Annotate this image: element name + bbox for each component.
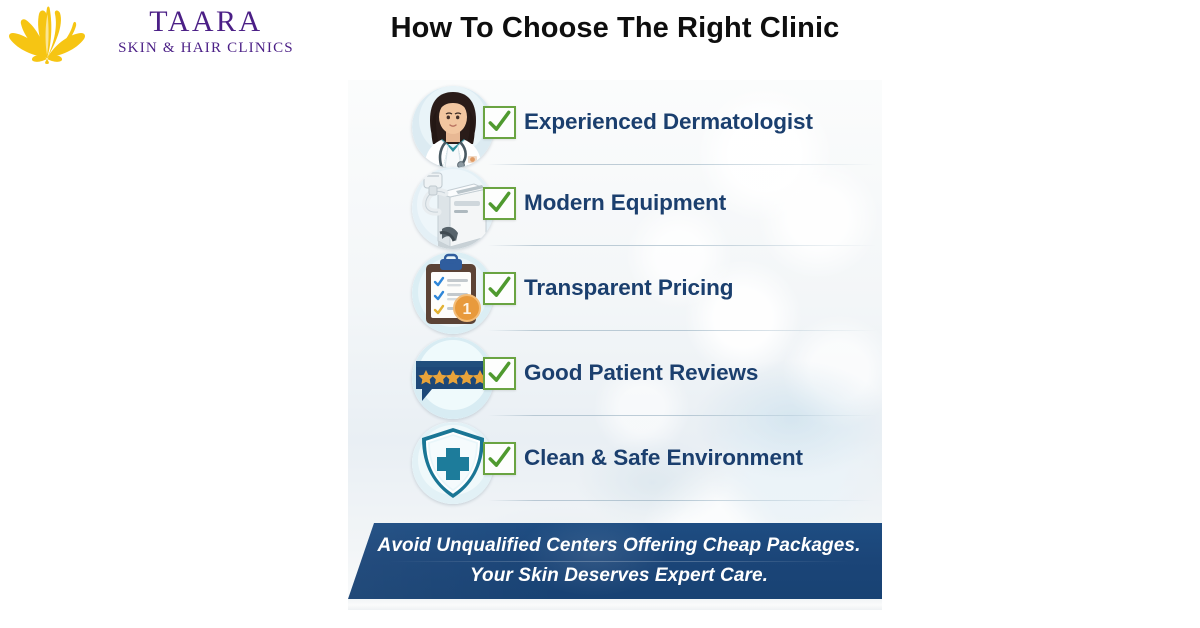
lotus-icon [6, 6, 88, 64]
list-item-label: Transparent Pricing [524, 270, 874, 306]
list-item-label: Experienced Dermatologist [524, 104, 874, 140]
checkbox-checked[interactable] [483, 106, 516, 139]
banner-rule [388, 561, 850, 562]
list-item: Good Patient Reviews [348, 335, 882, 421]
warning-banner: Avoid Unqualified Centers Offering Cheap… [348, 523, 882, 599]
row-divider [488, 330, 876, 331]
row-divider [488, 500, 876, 501]
brand-name: TAARA [90, 6, 322, 38]
list-item-label: Modern Equipment [524, 185, 874, 221]
panel-bottom-strip [348, 599, 882, 610]
brand-wordmark: TAARA SKIN & HAIR CLINICS [90, 6, 322, 62]
banner-line-2: Your Skin Deserves Expert Care. [374, 565, 864, 587]
laser-machine-icon [412, 167, 494, 249]
checkbox-checked[interactable] [483, 187, 516, 220]
page-title: How To Choose The Right Clinic [330, 12, 900, 45]
clipboard-checklist-icon: 1 [412, 252, 494, 334]
checkbox-checked[interactable] [483, 357, 516, 390]
infographic-panel: Experienced Dermatologist [348, 80, 882, 610]
list-item: Experienced Dermatologist [348, 84, 882, 170]
svg-text:1: 1 [463, 301, 472, 318]
list-item-label: Clean & Safe Environment [524, 440, 874, 476]
brand-logo[interactable]: TAARA SKIN & HAIR CLINICS [6, 4, 326, 66]
list-item: Clean & Safe Environment [348, 420, 882, 506]
checkbox-checked[interactable] [483, 272, 516, 305]
brand-tagline: SKIN & HAIR CLINICS [90, 38, 322, 58]
banner-line-1: Avoid Unqualified Centers Offering Cheap… [374, 535, 864, 557]
checkbox-checked[interactable] [483, 442, 516, 475]
five-star-review-bubble-icon [412, 337, 494, 419]
infographic-page: TAARA SKIN & HAIR CLINICS How To Choose … [0, 0, 1200, 628]
list-item: Modern Equipment [348, 165, 882, 251]
medical-shield-icon [412, 422, 494, 504]
list-item: 1 Transparent Pricing [348, 250, 882, 336]
doctor-icon [412, 86, 494, 168]
row-divider [488, 415, 876, 416]
row-divider [488, 245, 876, 246]
list-item-label: Good Patient Reviews [524, 355, 874, 391]
